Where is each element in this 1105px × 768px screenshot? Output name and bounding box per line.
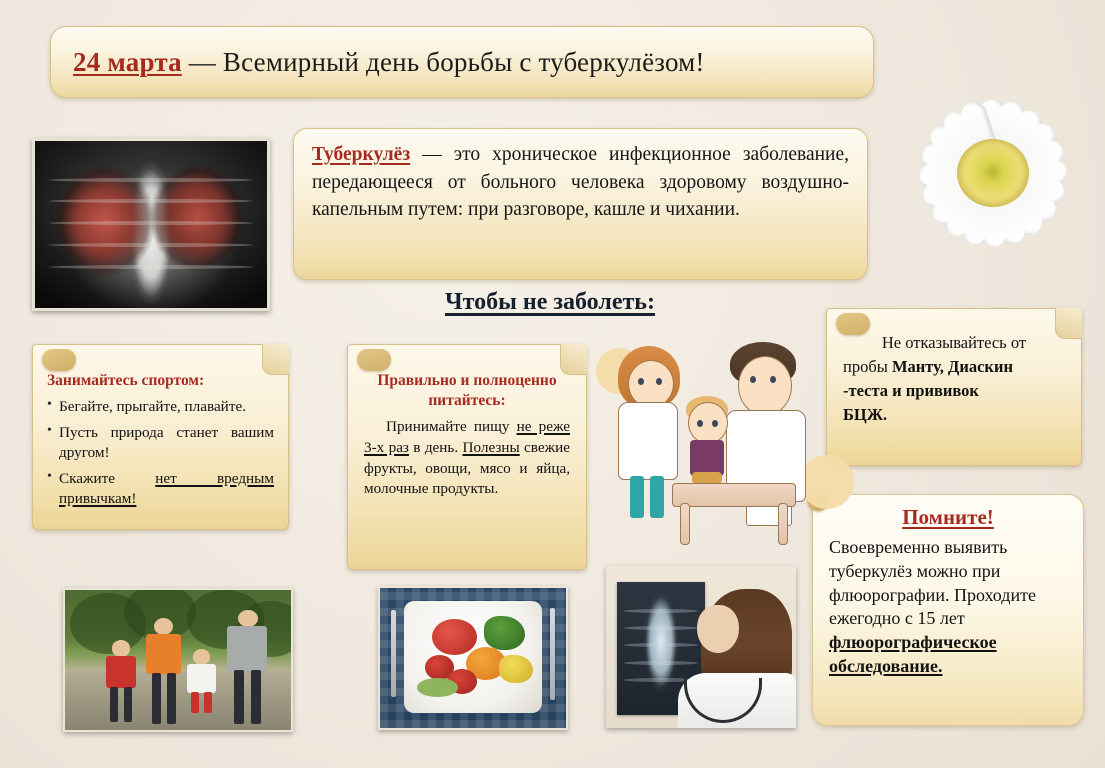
nutrition-advice-card: Правильно и полноценно питайтесь: Приним…: [347, 344, 587, 570]
remember-card-title: Помните!: [829, 505, 1067, 530]
mantoux-line-1: Не отказывайтесь от: [843, 331, 1065, 355]
white-daisy-flower-image: [893, 78, 1093, 268]
lettuce: [417, 678, 458, 698]
nutrition-card-body: Принимайте пищу не реже 3-х раз в день. …: [364, 417, 570, 500]
runner-child-2: [183, 649, 221, 725]
doctor-examining-xray-image: [606, 566, 796, 728]
runner-father: [223, 610, 273, 725]
mantoux-line-2-bold: Манту, Диаскин: [892, 357, 1013, 376]
cartoon-exam-table-top: [672, 483, 796, 507]
mantoux-line-4: БЦЖ.: [843, 403, 1065, 427]
runner-mother: [142, 618, 187, 724]
mantoux-line-3: -теста и прививок: [843, 379, 1065, 403]
doctors-vaccinating-baby-illustration: [600, 340, 848, 545]
definition-text: Туберкулёз — это хроническое инфекционно…: [312, 141, 849, 224]
bullet-text: Бегайте, прыгайте, плавайте.: [59, 398, 246, 415]
remember-card-body: Своевременно выявить туберкулёз можно пр…: [829, 536, 1067, 679]
definition-term: Туберкулёз: [312, 144, 410, 165]
bullet-text: Скажите: [59, 470, 155, 487]
title-date-highlight: 24 марта: [73, 47, 182, 77]
knife-icon: [550, 608, 555, 700]
sport-card-title: Занимайтесь спортом:: [47, 371, 274, 391]
pepper: [484, 616, 525, 650]
nutrition-text-1: Принимайте пищу: [386, 418, 517, 435]
mantoux-line-2: пробы Манту, Диаскин: [843, 355, 1065, 379]
decorative-blob: [800, 455, 854, 509]
title-rest: — Всемирный день борьбы с туберкулёзом!: [182, 47, 705, 77]
cartoon-table-leg: [680, 503, 690, 545]
sport-card-list: Бегайте, прыгайте, плавайте. Пусть приро…: [47, 397, 274, 509]
list-item: Бегайте, прыгайте, плавайте.: [47, 397, 274, 417]
nutrition-text-underlined-2: Полезны: [463, 439, 520, 456]
nutrition-card-title: Правильно и полноценно питайтесь:: [364, 371, 570, 411]
poster-title-text: 24 марта — Всемирный день борьбы с тубер…: [73, 47, 705, 78]
mantoux-advice-card: Не отказывайтесь от пробы Манту, Диаскин…: [826, 308, 1082, 466]
fork-icon: [391, 610, 396, 697]
tuberculosis-definition-panel: Туберкулёз — это хроническое инфекционно…: [293, 128, 868, 280]
chest-xray-tuberculosis-image: [32, 138, 270, 311]
remember-text-underlined: флюорографическое обследование.: [829, 632, 997, 676]
remember-fluorography-card: Помните! Своевременно выявить туберкулёз…: [812, 494, 1084, 726]
section-heading-prevention: Чтобы не заболеть:: [400, 289, 700, 316]
list-item: Скажите нет вредным привычкам!: [47, 469, 274, 509]
family-jogging-image: [63, 588, 293, 732]
poster-canvas: 24 марта — Всемирный день борьбы с тубер…: [0, 0, 1105, 768]
apple: [432, 619, 477, 655]
daisy-center: [957, 139, 1029, 207]
healthy-food-plate-image: [378, 586, 568, 730]
bullet-text: Пусть природа станет вашим другом!: [59, 424, 274, 461]
sport-advice-card: Занимайтесь спортом: Бегайте, прыгайте, …: [32, 344, 289, 530]
nutrition-text-2: в день.: [409, 439, 463, 456]
lemon: [499, 655, 532, 683]
cartoon-table-leg: [778, 503, 788, 545]
runner-child-1: [101, 640, 142, 721]
mantoux-line-2-pre: пробы: [843, 357, 892, 376]
poster-title-banner: 24 марта — Всемирный день борьбы с тубер…: [50, 26, 874, 98]
mantoux-card-body: Не отказывайтесь от пробы Манту, Диаскин…: [843, 331, 1065, 427]
list-item: Пусть природа станет вашим другом!: [47, 423, 274, 463]
remember-text: Своевременно выявить туберкулёз можно пр…: [829, 537, 1036, 628]
